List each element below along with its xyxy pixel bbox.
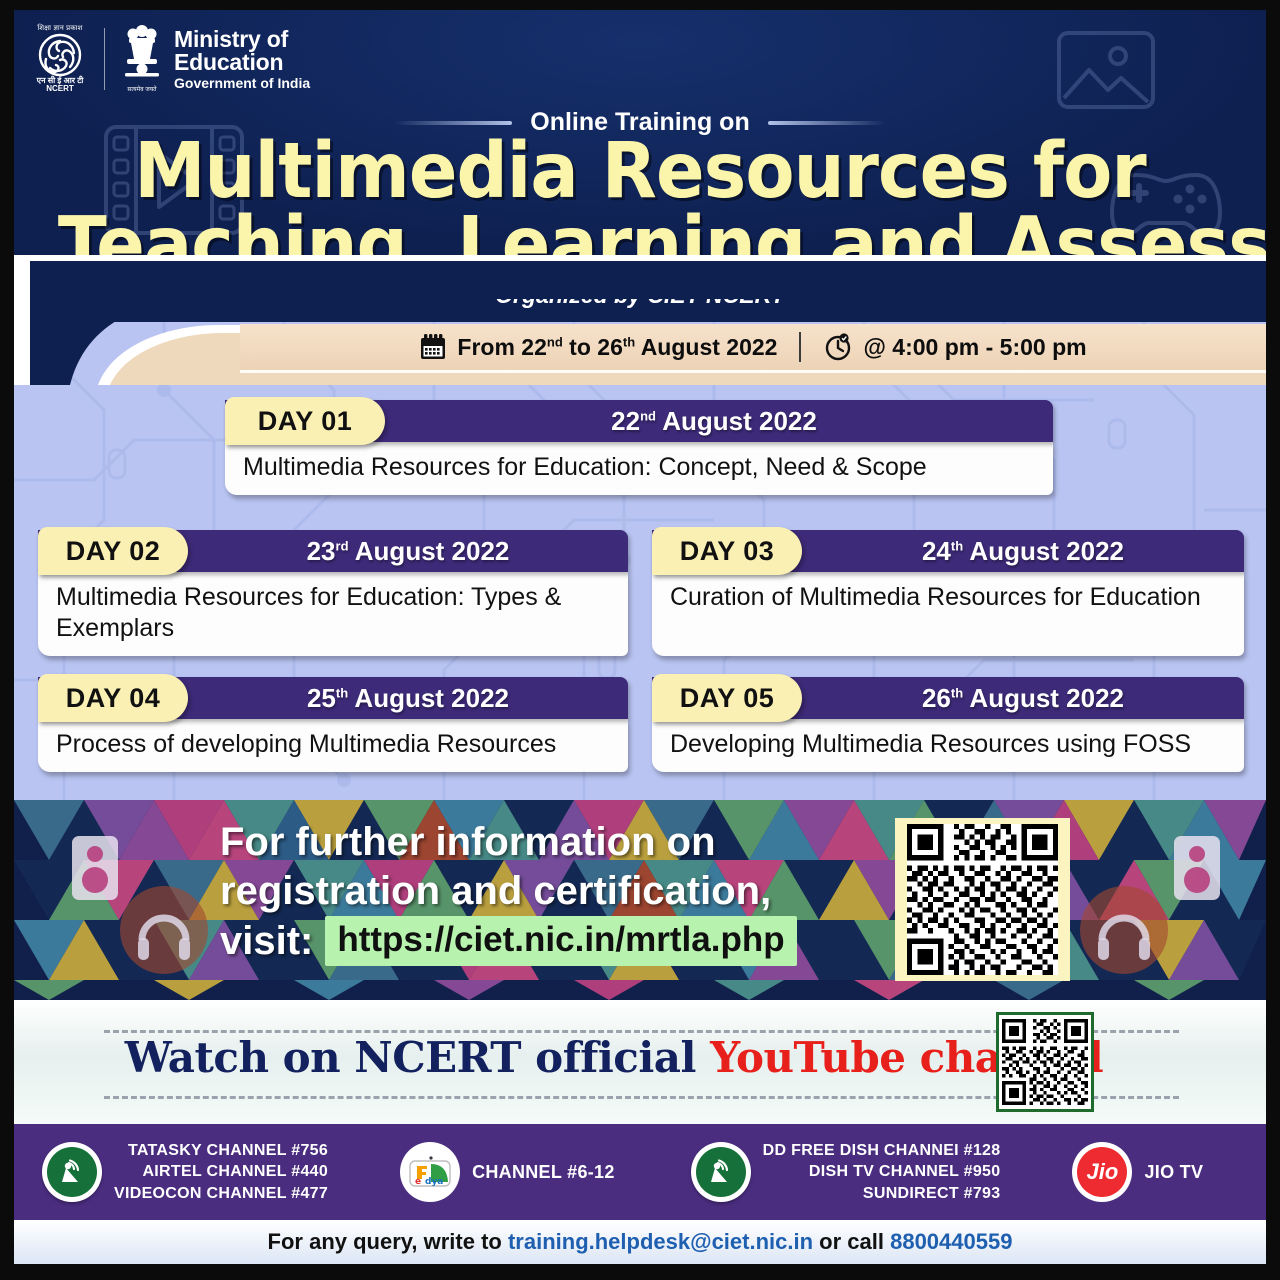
day-card: DAY 01 22nd August 2022 Multimedia Resou… (225, 400, 1053, 495)
day-card-header: DAY 04 25th August 2022 (38, 677, 628, 719)
day-card: DAY 03 24th August 2022 Curation of Mult… (652, 530, 1244, 656)
day-card-header: DAY 01 22nd August 2022 (225, 400, 1053, 442)
day-topic: Developing Multimedia Resources using FO… (652, 719, 1244, 772)
day-topic: Multimedia Resources for Education: Type… (38, 572, 628, 656)
day-card: DAY 02 23rd August 2022 Multimedia Resou… (38, 530, 628, 656)
day-topic: Process of developing Multimedia Resourc… (38, 719, 628, 772)
poster-root: शिक्षा ज्ञान प्रकाश एन सी ई आर टीNCERT (0, 0, 1280, 1280)
day-topic: Multimedia Resources for Education: Conc… (225, 442, 1053, 495)
day-card-header: DAY 05 26th August 2022 (652, 677, 1244, 719)
day-card-header: DAY 03 24th August 2022 (652, 530, 1244, 572)
day-topic: Curation of Multimedia Resources for Edu… (652, 572, 1244, 656)
day-cards: DAY 01 22nd August 2022 Multimedia Resou… (0, 0, 1280, 1280)
day-tag: DAY 05 (652, 674, 802, 722)
day-tag: DAY 03 (652, 527, 802, 575)
day-card: DAY 05 26th August 2022 Developing Multi… (652, 677, 1244, 772)
day-card: DAY 04 25th August 2022 Process of devel… (38, 677, 628, 772)
day-tag: DAY 04 (38, 674, 188, 722)
day-tag: DAY 01 (225, 397, 385, 445)
day-card-header: DAY 02 23rd August 2022 (38, 530, 628, 572)
day-tag: DAY 02 (38, 527, 188, 575)
